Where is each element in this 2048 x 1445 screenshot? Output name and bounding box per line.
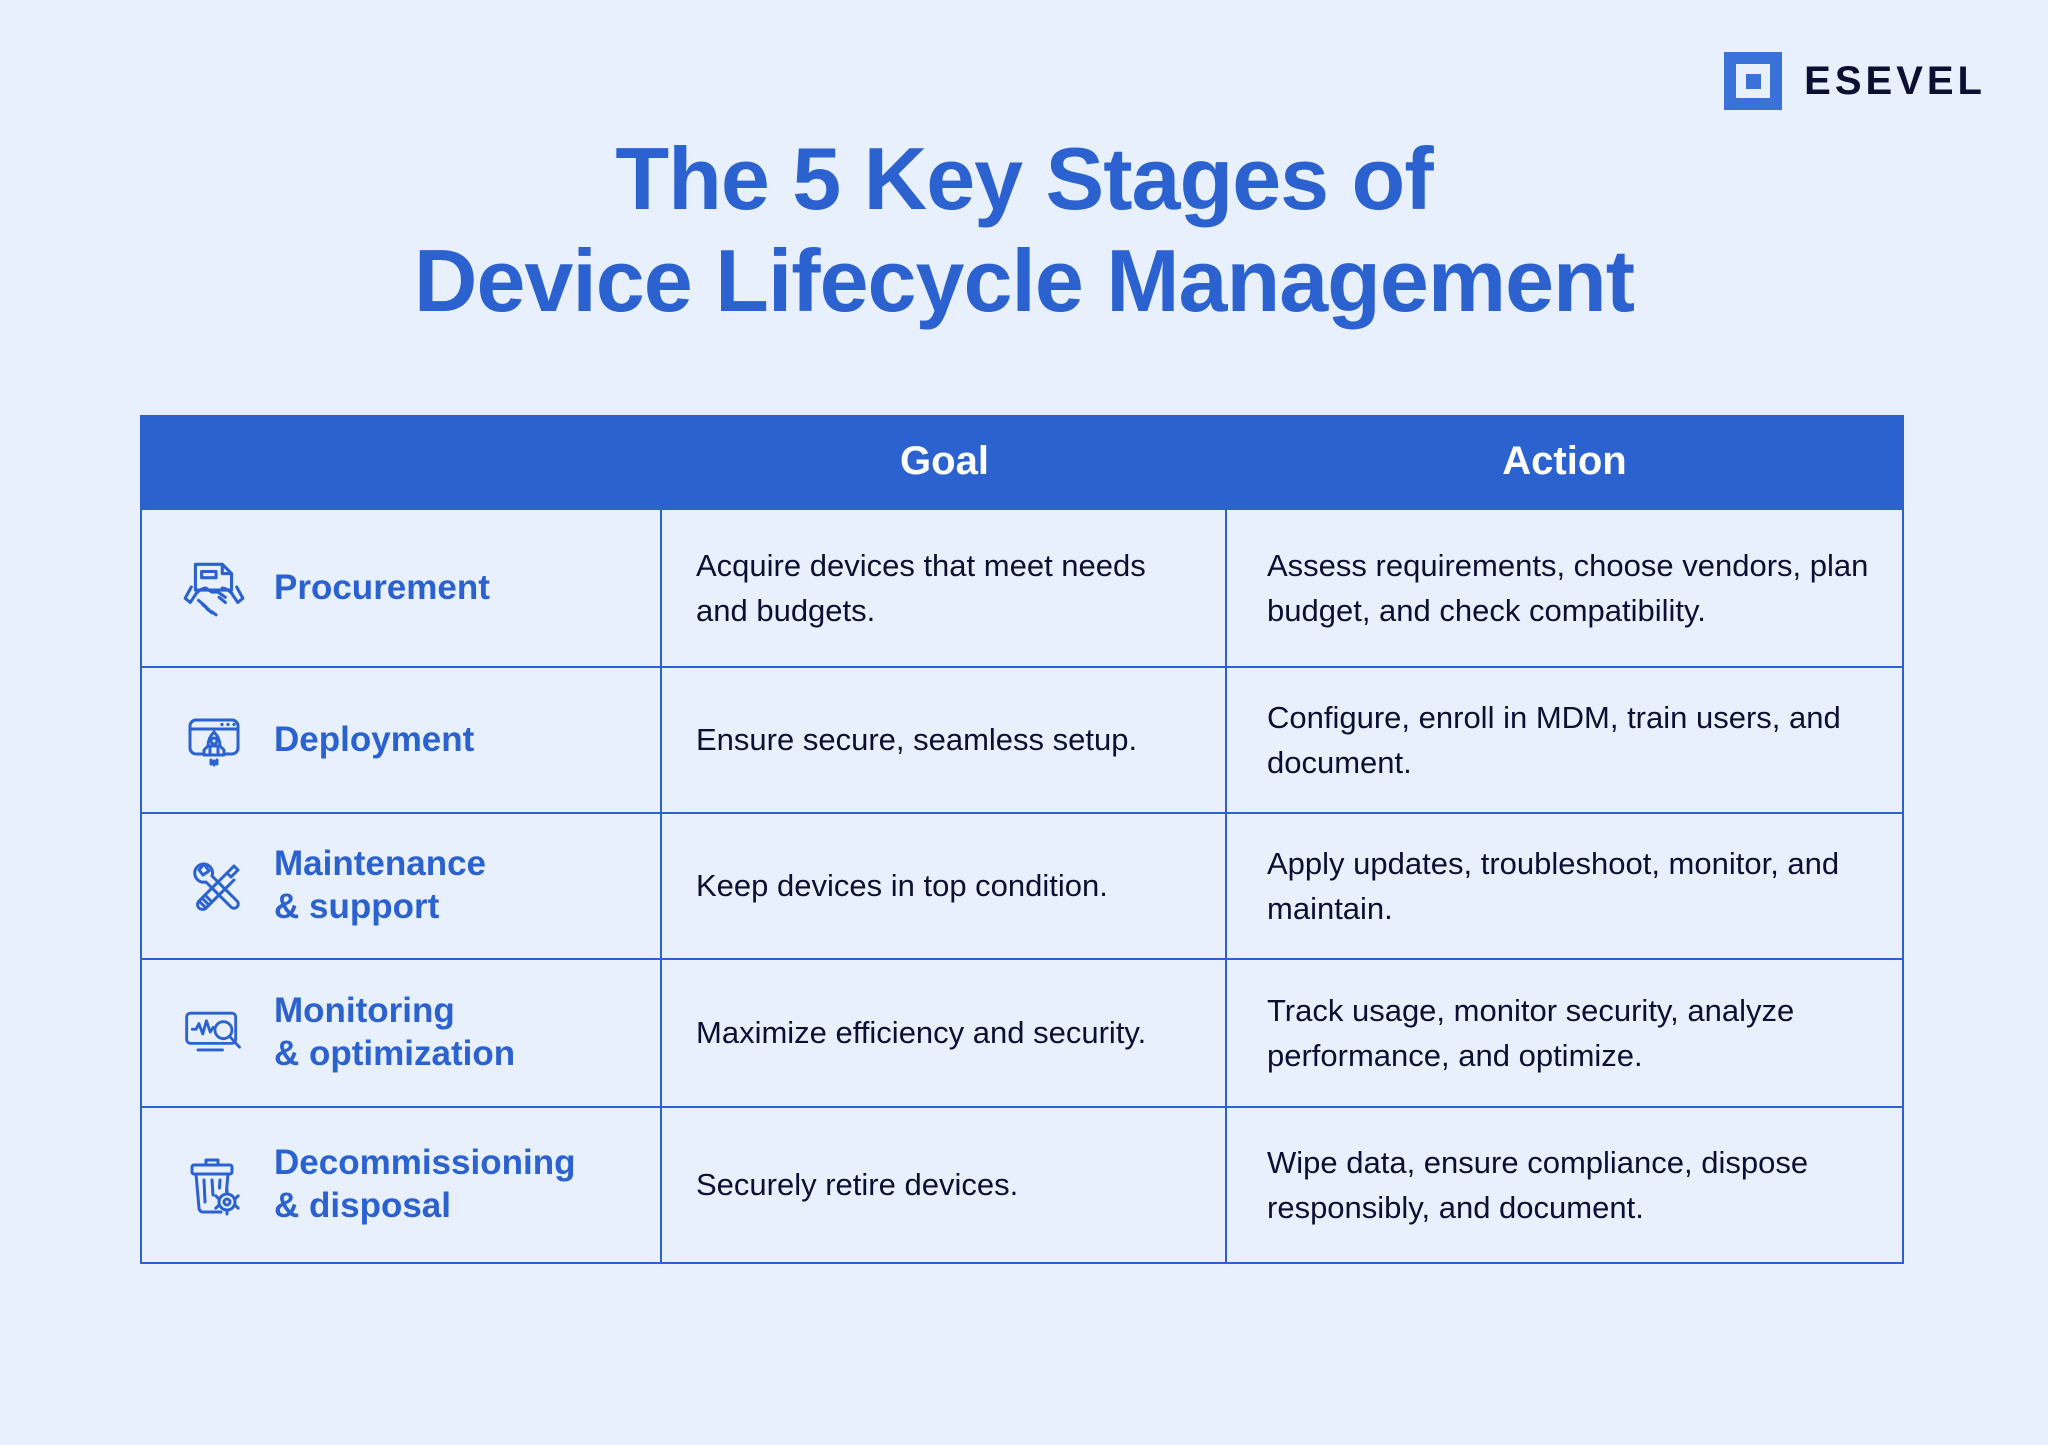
row-goal-cell: Ensure secure, seamless setup. — [662, 668, 1227, 812]
header-goal: Goal — [662, 415, 1227, 508]
action-text: Assess requirements, choose vendors, pla… — [1267, 543, 1876, 634]
goal-text: Acquire devices that meet needs and budg… — [696, 543, 1199, 634]
page-title: The 5 Key Stages of Device Lifecycle Man… — [0, 128, 2048, 332]
goal-text: Securely retire devices. — [696, 1162, 1018, 1207]
lifecycle-table: Goal Action — [140, 415, 1904, 1264]
row-goal-cell: Maximize efficiency and security. — [662, 960, 1227, 1106]
table-row: Deployment Ensure secure, seamless setup… — [142, 666, 1902, 812]
trash-gear-icon — [178, 1146, 250, 1224]
brand-name: ESEVEL — [1804, 61, 1986, 101]
table-row: Decommissioning & disposal Securely reti… — [142, 1106, 1902, 1262]
row-stage-cell: Deployment — [142, 668, 662, 812]
logo-center-dot — [1746, 74, 1761, 89]
handshake-contract-icon — [178, 549, 250, 627]
row-goal-cell: Keep devices in top condition. — [662, 814, 1227, 958]
row-stage-cell: Maintenance & support — [142, 814, 662, 958]
stage-label: Deployment — [274, 719, 474, 762]
title-line-1: The 5 Key Stages of — [615, 129, 1432, 228]
stage-label: Procurement — [274, 567, 490, 610]
row-stage-cell: Monitoring & optimization — [142, 960, 662, 1106]
table-row: Procurement Acquire devices that meet ne… — [142, 508, 1902, 666]
row-action-cell: Wipe data, ensure compliance, dispose re… — [1227, 1108, 1902, 1262]
title-line-2: Device Lifecycle Management — [0, 230, 2048, 332]
stage-label: Monitoring & optimization — [274, 990, 515, 1075]
row-stage-cell: Procurement — [142, 510, 662, 666]
goal-text: Keep devices in top condition. — [696, 863, 1108, 908]
row-action-cell: Assess requirements, choose vendors, pla… — [1227, 510, 1902, 666]
browser-rocket-icon — [178, 701, 250, 779]
infographic-page: ESEVEL The 5 Key Stages of Device Lifecy… — [0, 0, 2048, 1445]
brand-logo: ESEVEL — [1724, 52, 1986, 110]
header-stage — [142, 415, 662, 508]
table-row: Maintenance & support Keep devices in to… — [142, 812, 1902, 958]
row-action-cell: Configure, enroll in MDM, train users, a… — [1227, 668, 1902, 812]
wrench-screwdriver-icon — [178, 847, 250, 925]
esevel-logo-icon — [1724, 52, 1782, 110]
row-stage-cell: Decommissioning & disposal — [142, 1108, 662, 1262]
action-text: Configure, enroll in MDM, train users, a… — [1267, 695, 1876, 786]
action-text: Track usage, monitor security, analyze p… — [1267, 988, 1876, 1079]
stage-label: Decommissioning & disposal — [274, 1142, 575, 1227]
stage-label: Maintenance & support — [274, 843, 486, 928]
action-text: Wipe data, ensure compliance, dispose re… — [1267, 1140, 1876, 1231]
goal-text: Maximize efficiency and security. — [696, 1010, 1146, 1055]
logo-inner-square — [1736, 64, 1770, 98]
header-action: Action — [1227, 415, 1902, 508]
action-text: Apply updates, troubleshoot, monitor, an… — [1267, 841, 1876, 932]
row-action-cell: Track usage, monitor security, analyze p… — [1227, 960, 1902, 1106]
row-goal-cell: Securely retire devices. — [662, 1108, 1227, 1262]
row-goal-cell: Acquire devices that meet needs and budg… — [662, 510, 1227, 666]
row-action-cell: Apply updates, troubleshoot, monitor, an… — [1227, 814, 1902, 958]
goal-text: Ensure secure, seamless setup. — [696, 717, 1137, 762]
table-header-row: Goal Action — [142, 415, 1902, 508]
table-row: Monitoring & optimization Maximize effic… — [142, 958, 1902, 1106]
monitor-magnifier-icon — [178, 994, 250, 1072]
